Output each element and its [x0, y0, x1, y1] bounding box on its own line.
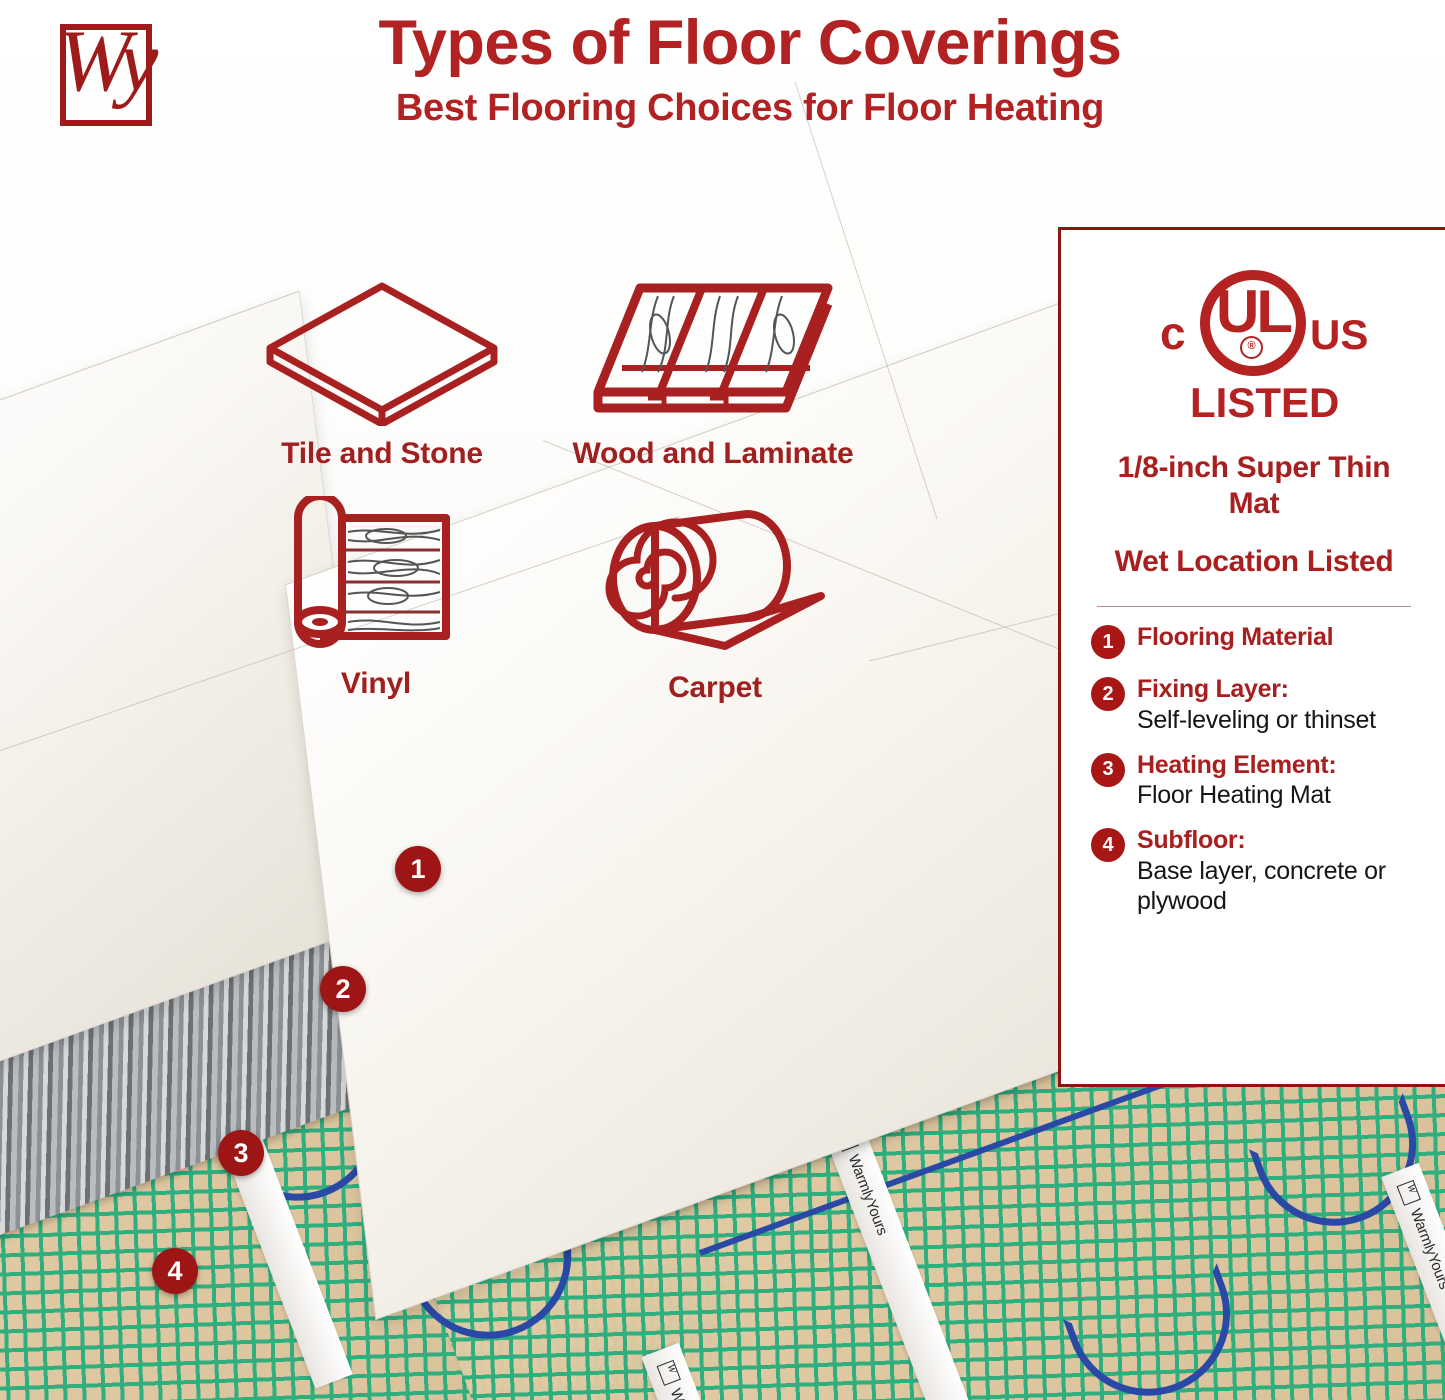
step-badge-heating-element: 3 — [218, 1130, 264, 1176]
legend-number-badge: 2 — [1091, 677, 1125, 711]
legend-item-2: 2 Fixing Layer: Self-leveling or thinset — [1091, 675, 1417, 735]
step-badge-flooring-material: 1 — [395, 846, 441, 892]
page-subtitle: Best Flooring Choices for Floor Heating — [250, 87, 1250, 130]
legend-description: Floor Heating Mat — [1137, 780, 1417, 810]
legend-item-4: 4 Subfloor: Base layer, concrete or plyw… — [1091, 826, 1417, 916]
registered-trademark-icon: ® — [1240, 336, 1263, 359]
title-block: Types of Floor Coverings Best Flooring C… — [250, 10, 1250, 130]
step-badge-subfloor: 4 — [152, 1248, 198, 1294]
panel-divider — [1097, 606, 1411, 607]
legend-number-badge: 3 — [1091, 753, 1125, 787]
legend-text-block: Subfloor: Base layer, concrete or plywoo… — [1137, 826, 1417, 916]
legend-title: Flooring Material — [1137, 623, 1417, 653]
ul-listed-word: LISTED — [1190, 382, 1339, 424]
legend-title: Heating Element: — [1137, 751, 1417, 781]
legend-item-3: 3 Heating Element: Floor Heating Mat — [1091, 751, 1417, 811]
flooring-type-label: Vinyl — [236, 667, 516, 701]
legend-text-block: Fixing Layer: Self-leveling or thinset — [1137, 675, 1417, 735]
spec-info-panel: c UL ® US LISTED 1/8-inch Super Thin Mat… — [1058, 227, 1445, 1087]
brand-logo[interactable]: Wy — [42, 14, 158, 140]
legend-text-block: Flooring Material — [1137, 623, 1417, 653]
wood-planks-icon — [578, 276, 848, 426]
panel-headline-thin-mat: 1/8-inch Super Thin Mat — [1091, 450, 1417, 522]
legend-number-badge: 4 — [1091, 828, 1125, 862]
legend-description: Base layer, concrete or plywood — [1137, 856, 1417, 916]
tile-slab-icon — [262, 276, 502, 426]
legend-text-block: Heating Element: Floor Heating Mat — [1137, 751, 1417, 811]
logo-monogram-text: Wy — [58, 18, 154, 106]
ul-c-label: c — [1160, 310, 1186, 356]
flooring-type-wood-and-laminate[interactable]: Wood and Laminate — [548, 276, 878, 471]
legend-description: Self-leveling or thinset — [1137, 705, 1417, 735]
wy-tape-logo-icon — [657, 1360, 681, 1386]
legend-item-1: 1 Flooring Material — [1091, 623, 1417, 659]
flooring-type-tile-and-stone[interactable]: Tile and Stone — [232, 276, 532, 471]
step-badge-fixing-layer: 2 — [320, 966, 366, 1012]
ul-listed-certification-mark-icon: c UL ® US LISTED — [1104, 270, 1404, 442]
legend-title: Subfloor: — [1137, 826, 1417, 856]
wy-tape-logo-icon — [1397, 1180, 1421, 1206]
flooring-type-carpet[interactable]: Carpet — [565, 500, 865, 705]
legend-title: Fixing Layer: — [1137, 675, 1417, 705]
panel-headline-wet-location: Wet Location Listed — [1091, 544, 1417, 580]
page-title: Types of Floor Coverings — [250, 10, 1250, 77]
carpet-roll-icon — [595, 500, 835, 660]
flooring-type-label: Carpet — [565, 671, 865, 705]
header: Wy Types of Floor Coverings Best Floorin… — [0, 0, 1445, 190]
flooring-type-vinyl[interactable]: Vinyl — [236, 496, 516, 701]
vinyl-roll-icon — [276, 496, 476, 656]
ul-us-label: US — [1310, 314, 1368, 356]
flooring-type-label: Wood and Laminate — [548, 437, 878, 471]
legend-number-badge: 1 — [1091, 625, 1125, 659]
ul-letters: UL — [1216, 282, 1290, 342]
infographic-canvas: WarmlyYours WarmlyYours WarmlyYours Warm… — [0, 0, 1445, 1400]
flooring-type-label: Tile and Stone — [232, 437, 532, 471]
